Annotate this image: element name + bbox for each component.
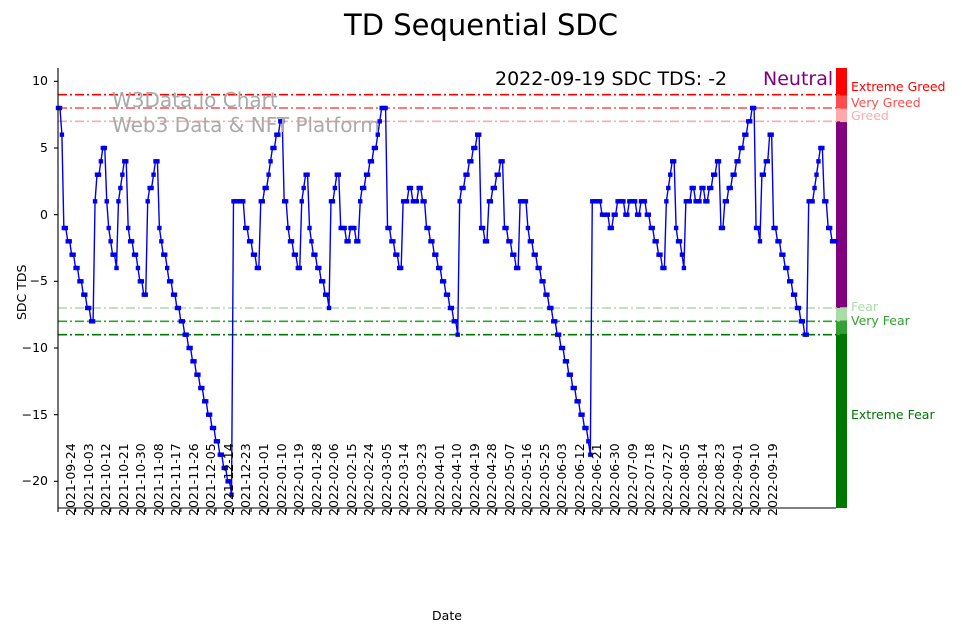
- data-point: [674, 226, 678, 230]
- data-point: [184, 332, 188, 336]
- data-point: [159, 239, 163, 243]
- x-tick-label: 2021-11-08: [151, 443, 166, 516]
- data-point: [286, 226, 290, 230]
- data-point: [621, 199, 625, 203]
- data-point: [816, 159, 820, 163]
- x-tick-label: 2022-09-10: [747, 443, 762, 516]
- x-tick-label: 2022-06-21: [589, 443, 604, 516]
- x-tick-label: 2022-03-05: [379, 443, 394, 516]
- extreme-fear-label: Extreme Fear: [851, 407, 935, 422]
- data-point: [212, 426, 216, 430]
- y-tick-label: −20: [8, 473, 48, 488]
- data-point: [485, 239, 489, 243]
- data-point: [200, 386, 204, 390]
- data-point: [606, 212, 610, 216]
- data-point: [530, 239, 534, 243]
- x-tick-label: 2022-05-25: [537, 443, 552, 516]
- data-point: [545, 292, 549, 296]
- data-point: [729, 186, 733, 190]
- data-point: [450, 306, 454, 310]
- x-tick-label: 2022-06-03: [554, 443, 569, 516]
- data-point: [305, 172, 309, 176]
- data-point: [337, 172, 341, 176]
- x-tick-label: 2022-06-12: [572, 443, 587, 516]
- data-point: [454, 319, 458, 323]
- fear-label: Fear: [851, 299, 878, 314]
- data-point: [569, 372, 573, 376]
- x-tick-label: 2022-06-30: [607, 443, 622, 516]
- data-point: [426, 226, 430, 230]
- data-point: [112, 252, 116, 256]
- data-point: [405, 199, 409, 203]
- data-point: [797, 306, 801, 310]
- zone-segment-very-greed: [836, 95, 847, 108]
- data-point: [395, 252, 399, 256]
- x-tick-label: 2022-05-16: [519, 443, 534, 516]
- data-point: [647, 212, 651, 216]
- data-point: [422, 199, 426, 203]
- data-point: [752, 106, 756, 110]
- x-tick-label: 2022-04-01: [432, 443, 447, 516]
- data-point: [188, 346, 192, 350]
- data-point: [672, 159, 676, 163]
- data-point: [633, 199, 637, 203]
- x-tick-label: 2021-11-17: [168, 443, 183, 516]
- x-tick-label: 2022-02-06: [326, 443, 341, 516]
- data-point: [75, 266, 79, 270]
- data-point: [68, 239, 72, 243]
- data-point: [732, 172, 736, 176]
- data-point: [144, 292, 148, 296]
- data-point: [333, 186, 337, 190]
- y-tick-label: 5: [8, 140, 48, 155]
- data-point: [272, 146, 276, 150]
- data-point: [801, 319, 805, 323]
- data-point: [662, 266, 666, 270]
- x-tick-label: 2022-03-14: [396, 443, 411, 516]
- data-point: [71, 252, 75, 256]
- data-point: [610, 226, 614, 230]
- x-tick-label: 2021-10-12: [98, 443, 113, 516]
- data-point: [512, 252, 516, 256]
- data-point: [409, 186, 413, 190]
- data-point: [789, 279, 793, 283]
- data-point: [140, 279, 144, 283]
- data-point: [177, 306, 181, 310]
- data-point: [163, 252, 167, 256]
- data-point: [824, 199, 828, 203]
- x-tick-label: 2022-04-10: [449, 443, 464, 516]
- data-point: [805, 332, 809, 336]
- zone-segment-greed: [836, 108, 847, 121]
- data-point: [313, 252, 317, 256]
- data-point: [651, 226, 655, 230]
- data-point: [126, 226, 130, 230]
- data-point: [97, 172, 101, 176]
- x-tick-label: 2022-04-28: [484, 443, 499, 516]
- data-point: [748, 119, 752, 123]
- data-point: [249, 239, 253, 243]
- x-tick-label: 2022-02-24: [361, 443, 376, 516]
- data-point: [105, 199, 109, 203]
- data-point: [465, 172, 469, 176]
- data-point: [370, 159, 374, 163]
- data-point: [438, 266, 442, 270]
- data-point: [557, 332, 561, 336]
- data-point: [625, 212, 629, 216]
- data-point: [264, 186, 268, 190]
- data-point: [358, 199, 362, 203]
- extreme-greed-label: Extreme Greed: [851, 79, 945, 94]
- data-point: [91, 319, 95, 323]
- data-point: [834, 239, 838, 243]
- data-point: [516, 266, 520, 270]
- data-point: [584, 426, 588, 430]
- data-point: [705, 199, 709, 203]
- data-point: [504, 226, 508, 230]
- x-tick-label: 2022-05-07: [502, 443, 517, 516]
- x-tick-label: 2022-08-14: [695, 443, 710, 516]
- x-tick-label: 2022-08-23: [712, 443, 727, 516]
- data-point: [598, 199, 602, 203]
- data-point: [561, 346, 565, 350]
- x-tick-label: 2022-01-01: [256, 443, 271, 516]
- x-tick-label: 2021-10-21: [116, 443, 131, 516]
- data-point: [331, 199, 335, 203]
- data-point: [526, 226, 530, 230]
- data-point: [418, 186, 422, 190]
- data-point: [537, 266, 541, 270]
- data-point: [493, 186, 497, 190]
- data-point: [391, 239, 395, 243]
- data-point: [814, 172, 818, 176]
- data-point: [374, 146, 378, 150]
- data-point: [637, 212, 641, 216]
- x-tick-label: 2022-03-23: [414, 443, 429, 516]
- x-tick-label: 2022-08-05: [677, 443, 692, 516]
- very-fear-label: Very Fear: [851, 313, 910, 328]
- data-point: [181, 319, 185, 323]
- y-tick-label: −5: [8, 273, 48, 288]
- data-point: [697, 199, 701, 203]
- data-point: [709, 186, 713, 190]
- x-tick-label: 2021-12-23: [238, 443, 253, 516]
- data-point: [457, 199, 461, 203]
- data-point: [165, 266, 169, 270]
- zone-segment-extreme-greed: [836, 68, 847, 95]
- data-point: [576, 399, 580, 403]
- data-point: [654, 239, 658, 243]
- data-point: [820, 146, 824, 150]
- chart-figure: TD Sequential SDC SDC TDS Date W3Data.io…: [0, 0, 962, 633]
- data-point: [387, 226, 391, 230]
- greed-label: Greed: [851, 108, 889, 123]
- data-point: [524, 199, 528, 203]
- data-point: [196, 372, 200, 376]
- data-point: [758, 239, 762, 243]
- data-point: [93, 199, 97, 203]
- data-point: [157, 226, 161, 230]
- data-point: [430, 239, 434, 243]
- data-point: [284, 199, 288, 203]
- data-point: [456, 332, 460, 336]
- data-point: [155, 159, 159, 163]
- zone-segment-neutral: [836, 121, 847, 308]
- data-point: [725, 199, 729, 203]
- data-point: [325, 292, 329, 296]
- x-tick-label: 2022-01-10: [274, 443, 289, 516]
- data-point: [204, 399, 208, 403]
- data-point: [83, 292, 87, 296]
- data-point: [399, 266, 403, 270]
- data-point: [103, 146, 107, 150]
- data-point: [691, 186, 695, 190]
- x-tick-label: 2021-10-03: [81, 443, 96, 516]
- data-point: [740, 146, 744, 150]
- x-tick-label: 2022-09-01: [730, 443, 745, 516]
- data-point: [383, 106, 387, 110]
- data-point: [613, 212, 617, 216]
- data-point: [114, 266, 118, 270]
- current-mood-annotation: Neutral: [763, 68, 833, 90]
- x-tick-label: 2021-09-24: [63, 443, 78, 516]
- data-point: [317, 266, 321, 270]
- data-point: [769, 132, 773, 136]
- data-point: [777, 239, 781, 243]
- current-value-annotation: 2022-09-19 SDC TDS: -2: [495, 68, 727, 90]
- data-point: [99, 159, 103, 163]
- data-point: [756, 226, 760, 230]
- data-point: [713, 172, 717, 176]
- data-point: [469, 159, 473, 163]
- x-tick-label: 2021-10-30: [133, 443, 148, 516]
- y-tick-label: 10: [8, 73, 48, 88]
- data-point: [580, 412, 584, 416]
- data-point: [192, 359, 196, 363]
- data-point: [149, 186, 153, 190]
- data-point: [553, 319, 557, 323]
- data-point: [116, 199, 120, 203]
- data-point: [268, 159, 272, 163]
- x-tick-label: 2022-04-19: [467, 443, 482, 516]
- data-point: [145, 199, 149, 203]
- y-tick-label: −10: [8, 340, 48, 355]
- zone-segment-very-fear: [836, 321, 847, 334]
- data-point: [362, 186, 366, 190]
- data-point: [721, 226, 725, 230]
- data-point: [508, 239, 512, 243]
- data-point: [124, 159, 128, 163]
- watermark-line-1: W3Data.io Chart: [112, 88, 278, 112]
- data-point: [136, 266, 140, 270]
- data-point: [120, 172, 124, 176]
- data-point: [300, 199, 304, 203]
- data-point: [573, 386, 577, 390]
- data-point: [169, 279, 173, 283]
- data-point: [87, 306, 91, 310]
- x-tick-label: 2022-09-19: [765, 443, 780, 516]
- data-point: [680, 252, 684, 256]
- data-point: [500, 159, 504, 163]
- data-point: [664, 199, 668, 203]
- data-point: [773, 226, 777, 230]
- data-point: [481, 226, 485, 230]
- data-point: [812, 186, 816, 190]
- data-point: [643, 199, 647, 203]
- data-point: [766, 159, 770, 163]
- data-point: [473, 146, 477, 150]
- data-point: [736, 159, 740, 163]
- data-point: [301, 186, 305, 190]
- x-axis-label: Date: [58, 608, 836, 623]
- data-point: [245, 226, 249, 230]
- data-point: [489, 199, 493, 203]
- zone-segment-extreme-fear: [836, 335, 847, 508]
- data-point: [290, 239, 294, 243]
- data-point: [668, 172, 672, 176]
- data-point: [79, 279, 83, 283]
- data-point: [266, 172, 270, 176]
- x-tick-label: 2022-07-09: [625, 443, 640, 516]
- data-point: [828, 226, 832, 230]
- y-tick-label: −15: [8, 407, 48, 422]
- x-tick-label: 2021-11-26: [186, 443, 201, 516]
- data-point: [461, 186, 465, 190]
- data-point: [321, 279, 325, 283]
- data-point: [241, 199, 245, 203]
- data-point: [60, 132, 64, 136]
- data-point: [134, 252, 138, 256]
- data-point: [688, 199, 692, 203]
- data-point: [446, 292, 450, 296]
- data-point: [107, 226, 111, 230]
- data-point: [118, 186, 122, 190]
- zone-segment-fear: [836, 308, 847, 321]
- data-point: [346, 239, 350, 243]
- data-point: [307, 226, 311, 230]
- data-point: [682, 266, 686, 270]
- data-point: [701, 186, 705, 190]
- x-tick-label: 2021-12-05: [203, 443, 218, 516]
- data-point: [541, 279, 545, 283]
- data-point: [442, 279, 446, 283]
- data-point: [342, 226, 346, 230]
- data-point: [717, 159, 721, 163]
- data-point: [666, 186, 670, 190]
- y-tick-label: 0: [8, 207, 48, 222]
- data-point: [415, 199, 419, 203]
- data-point: [366, 172, 370, 176]
- x-tick-label: 2022-07-27: [660, 443, 675, 516]
- data-point: [208, 412, 212, 416]
- data-point: [294, 252, 298, 256]
- data-point: [434, 252, 438, 256]
- data-point: [298, 266, 302, 270]
- x-tick-label: 2022-07-18: [642, 443, 657, 516]
- data-point: [678, 239, 682, 243]
- data-point: [253, 252, 257, 256]
- data-point: [151, 172, 155, 176]
- data-point: [785, 266, 789, 270]
- data-point: [744, 132, 748, 136]
- data-point: [261, 199, 265, 203]
- data-point: [130, 239, 134, 243]
- data-point: [762, 172, 766, 176]
- data-point: [534, 252, 538, 256]
- data-point: [64, 226, 68, 230]
- data-point: [309, 239, 313, 243]
- data-point: [108, 239, 112, 243]
- data-point: [257, 266, 261, 270]
- data-point: [352, 226, 356, 230]
- data-point: [549, 306, 553, 310]
- data-point: [327, 306, 331, 310]
- x-tick-label: 2022-01-28: [309, 443, 324, 516]
- data-point: [477, 132, 481, 136]
- data-point: [173, 292, 177, 296]
- x-tick-label: 2021-12-14: [221, 443, 236, 516]
- data-point: [356, 239, 360, 243]
- watermark-line-2: Web3 Data & NFT Platform: [112, 113, 380, 137]
- data-point: [781, 252, 785, 256]
- data-point: [793, 292, 797, 296]
- data-point: [565, 359, 569, 363]
- data-point: [496, 172, 500, 176]
- x-tick-label: 2022-01-19: [291, 443, 306, 516]
- data-point: [658, 252, 662, 256]
- data-point: [810, 199, 814, 203]
- x-tick-label: 2022-02-15: [344, 443, 359, 516]
